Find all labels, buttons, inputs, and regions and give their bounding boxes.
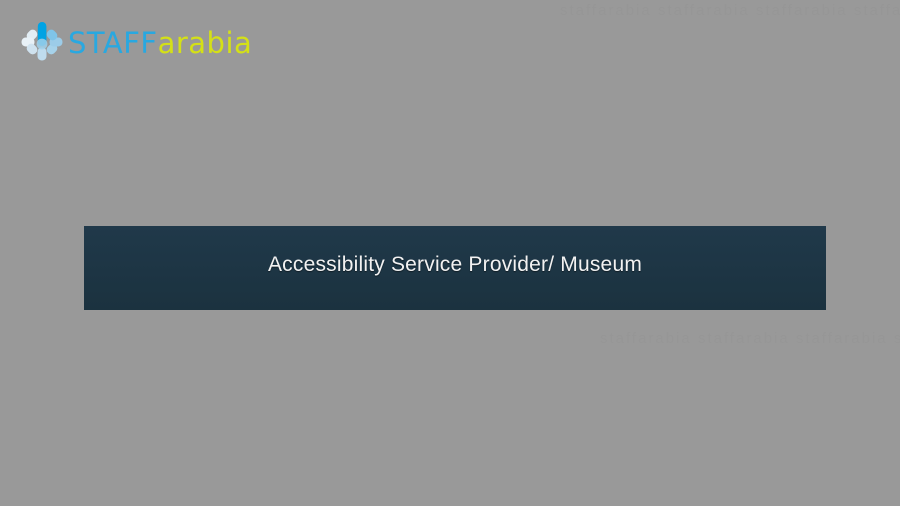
logo-word-staff: STAFF <box>68 26 158 60</box>
staffarabia-flower-icon <box>20 20 64 64</box>
logo-wordmark: STAFFarabia <box>68 26 252 60</box>
slide-title-band: Accessibility Service Provider/ Museum <box>84 226 826 310</box>
staffarabia-logo[interactable]: STAFFarabia <box>20 20 260 66</box>
watermark-text-top: staffarabia staffarabia staffarabia staf… <box>560 2 900 19</box>
presentation-slide: staffarabia staffarabia staffarabia staf… <box>0 0 900 506</box>
slide-title: Accessibility Service Provider/ Museum <box>268 253 642 277</box>
logo-word-arabia: arabia <box>158 26 253 60</box>
watermark-text-bottom: staffarabia staffarabia staffarabia staf… <box>600 330 900 347</box>
